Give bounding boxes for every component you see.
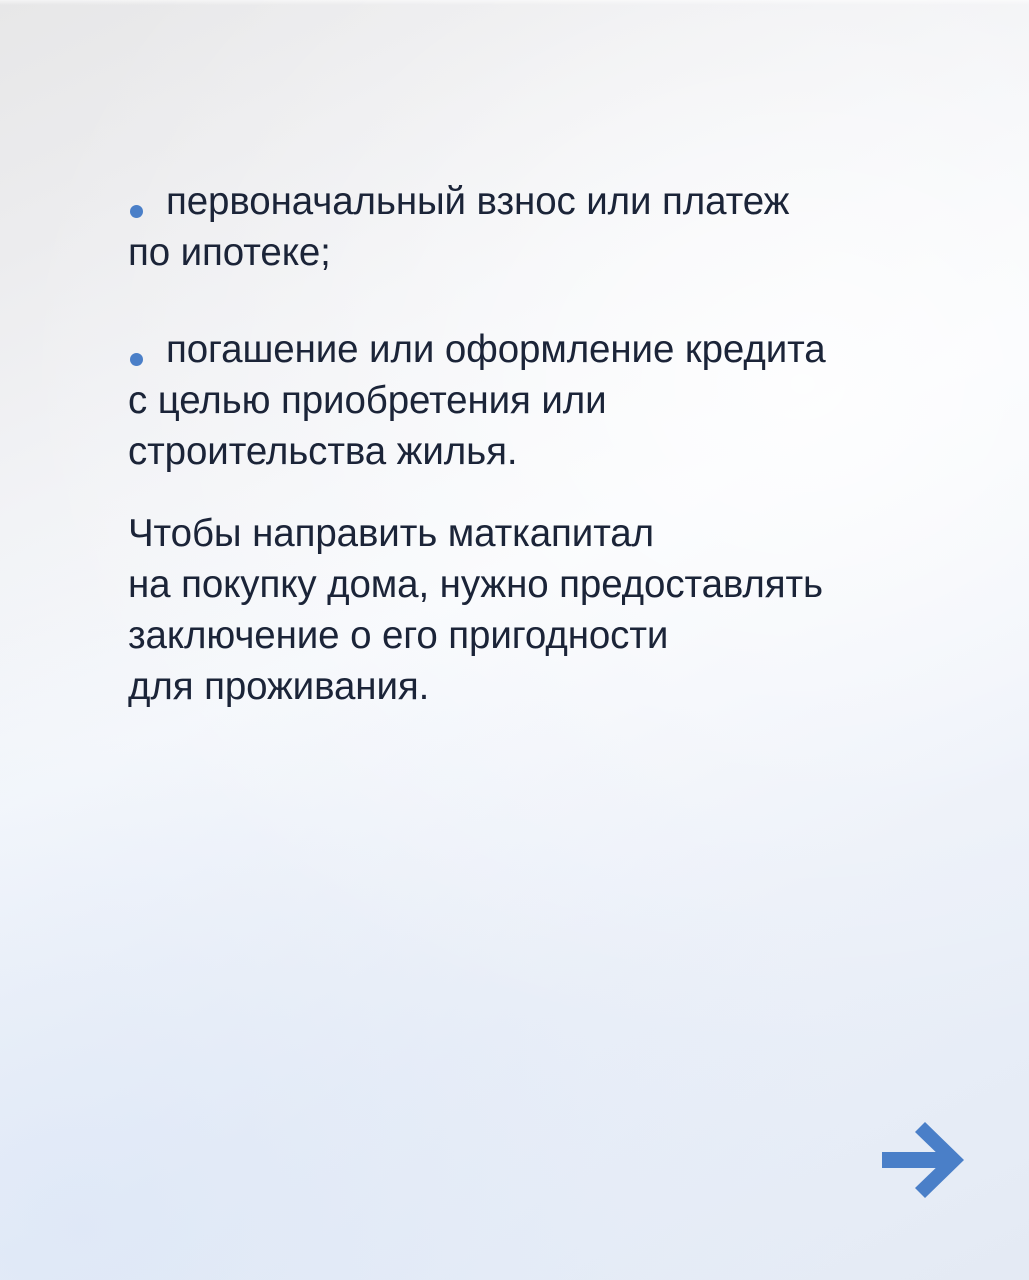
paragraph-line: заключение о его пригодности: [128, 610, 1008, 661]
arrow-right-icon[interactable]: [880, 1118, 972, 1202]
bullet-line: с целью приобретения или: [128, 375, 988, 426]
paragraph-line: для проживания.: [128, 661, 1008, 712]
bullet-dot-icon: [130, 205, 143, 218]
bullet-line: погашение или оформление кредита: [128, 324, 988, 375]
paragraph-line: Чтобы направить маткапитал: [128, 508, 1008, 559]
bullet-line: по ипотеке;: [128, 227, 988, 278]
paragraph-line: на покупку дома, нужно предоставлять: [128, 559, 1008, 610]
list-item: первоначальный взнос или платеж по ипоте…: [128, 176, 988, 278]
bullet-text: погашение или оформление кредита с целью…: [128, 324, 988, 477]
bullet-line: строительства жилья.: [128, 426, 988, 477]
body-paragraph: Чтобы направить маткапитал на покупку до…: [128, 508, 1008, 712]
bullet-dot-icon: [130, 353, 143, 366]
list-item: погашение или оформление кредита с целью…: [128, 324, 988, 477]
bullet-list: первоначальный взнос или платеж по ипоте…: [128, 176, 988, 477]
slide-content: первоначальный взнос или платеж по ипоте…: [0, 0, 1029, 1280]
bullet-line: первоначальный взнос или платеж: [128, 176, 988, 227]
bullet-text: первоначальный взнос или платеж по ипоте…: [128, 176, 988, 278]
slide-canvas: первоначальный взнос или платеж по ипоте…: [0, 0, 1029, 1280]
